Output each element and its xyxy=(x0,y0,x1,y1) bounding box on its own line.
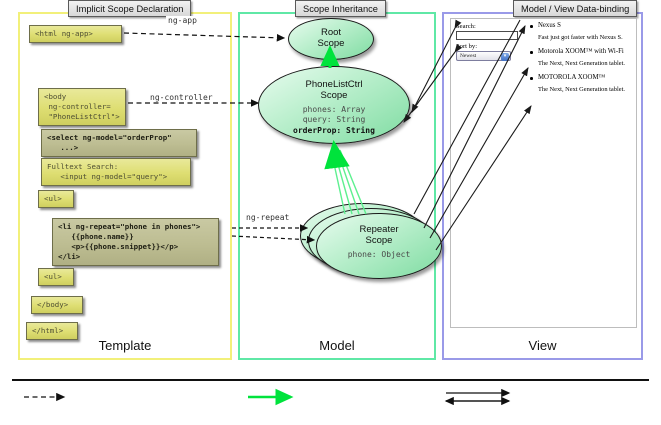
phonelistctrl-scope-title-line1: PhoneListCtrl xyxy=(305,79,362,90)
repeater-scope-title-line1: Repeater xyxy=(359,224,398,235)
repeater-scope-title-line2: Scope xyxy=(366,235,393,246)
code-box-html-tag: <html ng-app> xyxy=(29,25,122,43)
phonelistctrl-scope-prop-orderprop: orderProp: String xyxy=(293,126,375,135)
code-box-body-close: </body> xyxy=(31,296,83,314)
phone-name: MOTOROLA XOOM™ xyxy=(529,74,633,81)
view-rendered-app: Search: Sort by: Newest ▾ Nexus S Fast j… xyxy=(450,18,637,328)
repeater-scope-props: phone: Object xyxy=(348,250,411,259)
list-item[interactable]: Motorola XOOM™ with Wi-Fi The Next, Next… xyxy=(529,48,633,67)
phone-snippet: The Next, Next Generation tablet. xyxy=(529,60,633,67)
sort-by-selected-value: Newest xyxy=(460,53,476,59)
sort-by-label: Sort by: xyxy=(456,43,477,50)
code-box-ul-open: <ul> xyxy=(38,190,74,208)
phonelistctrl-scope-props: phones: Array query: String xyxy=(303,105,366,124)
column-label-view: View xyxy=(442,338,643,353)
code-box-body-tag: <body ng-controller= "PhoneListCtrl"> xyxy=(38,88,126,126)
edge-label-ng-controller: ng-controller xyxy=(148,93,215,102)
code-box-select-tag: <select ng-model="orderProp" ...> xyxy=(41,129,197,157)
phone-snippet: Fast just got faster with Nexus S. xyxy=(529,34,633,41)
legend-divider xyxy=(12,379,649,381)
code-box-html-close: </html> xyxy=(26,322,78,340)
list-item[interactable]: Nexus S Fast just got faster with Nexus … xyxy=(529,22,633,41)
sort-by-select[interactable]: Newest ▾ xyxy=(456,51,511,61)
code-box-li-ng-repeat: <li ng-repeat="phone in phones"> {{phone… xyxy=(52,218,219,266)
phone-snippet: The Next, Next Generation tablet. xyxy=(529,86,633,93)
phone-name: Motorola XOOM™ with Wi-Fi xyxy=(529,48,633,55)
search-label: Search: xyxy=(456,23,476,30)
edge-label-ng-repeat: ng-repeat xyxy=(244,213,291,222)
root-scope-title-line1: Root xyxy=(321,27,341,38)
code-box-ul-close: <ul> xyxy=(38,268,74,286)
legend-label-databinding: Model / View Data-binding xyxy=(513,0,637,17)
phonelistctrl-scope-title-line2: Scope xyxy=(321,90,348,101)
legend-label-scope-inheritance: Scope Inheritance xyxy=(295,0,386,17)
phone-list: Nexus S Fast just got faster with Nexus … xyxy=(529,22,633,100)
chevron-down-icon: ▾ xyxy=(501,53,509,61)
code-box-fulltext-input: Fulltext Search: <input ng-model="query"… xyxy=(41,158,191,186)
edge-label-ng-app: ng-app xyxy=(166,16,199,25)
phone-name: Nexus S xyxy=(529,22,633,29)
search-input[interactable] xyxy=(456,31,518,40)
legend-label-implicit-scope: Implicit Scope Declaration xyxy=(68,0,191,17)
column-label-template: Template xyxy=(18,338,232,353)
repeater-scope-ellipse-front: Repeater Scope phone: Object xyxy=(316,213,442,279)
root-scope-ellipse: Root Scope xyxy=(288,18,374,60)
diagram-canvas: <html ng-app> <body ng-controller= "Phon… xyxy=(0,0,661,425)
column-label-model: Model xyxy=(238,338,436,353)
column-model xyxy=(238,12,436,360)
list-item[interactable]: MOTOROLA XOOM™ The Next, Next Generation… xyxy=(529,74,633,93)
phonelistctrl-scope-ellipse: PhoneListCtrl Scope phones: Array query:… xyxy=(258,66,410,144)
root-scope-title-line2: Scope xyxy=(318,38,345,49)
